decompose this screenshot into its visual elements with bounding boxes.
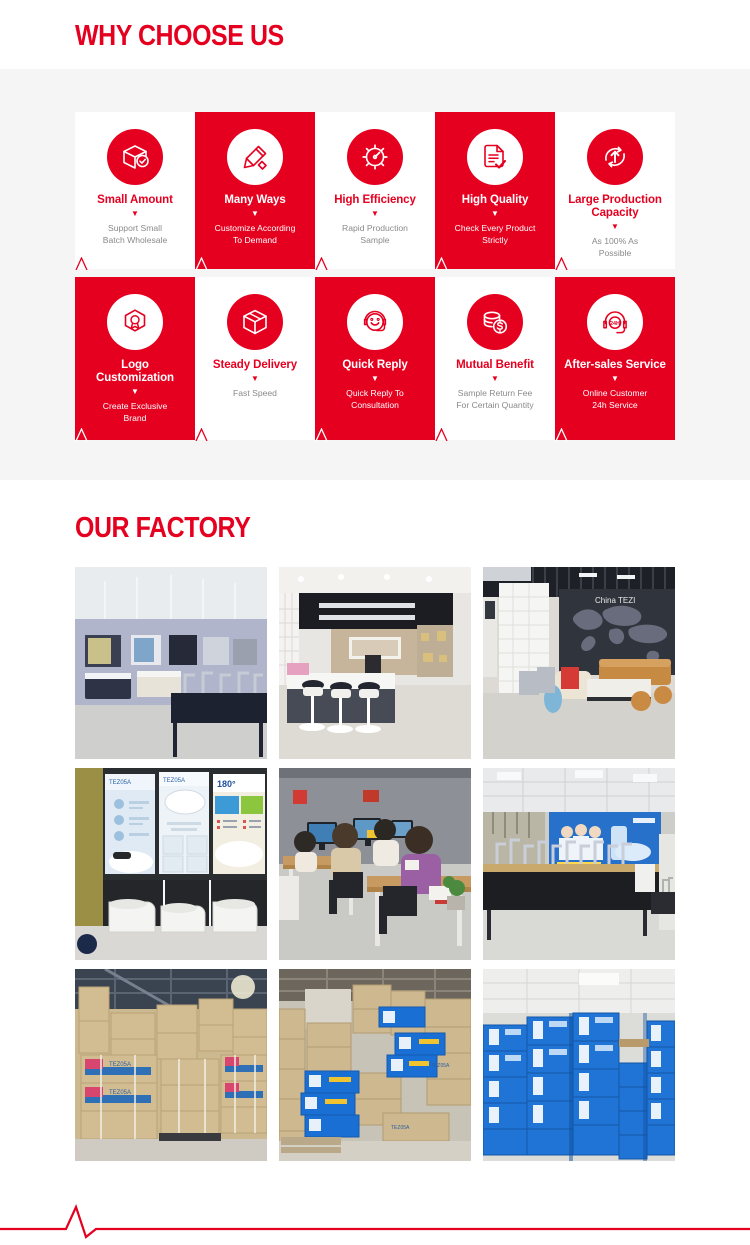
feature-card-title: Small Amount [75, 194, 195, 207]
feature-card-row-2: Logo Customization▼Create ExclusiveBrand… [75, 277, 675, 440]
our-factory-heading: OUR FACTORY [75, 512, 656, 545]
feature-card-title: Large Production Capacity [555, 194, 675, 220]
document-check-icon [467, 129, 523, 185]
feature-card-description: Customize AccordingTo Demand [195, 222, 315, 246]
smart-toilet-display-photo[interactable]: TEZ05ATEZ05A180° [75, 768, 267, 960]
triangle-down-icon: ▼ [555, 222, 675, 232]
feature-card-description: As 100% AsPossible [555, 235, 675, 259]
triangle-down-icon: ▼ [435, 374, 555, 384]
feature-card-description: Rapid ProductionSample [315, 222, 435, 246]
pulse-line-icon [0, 1191, 750, 1245]
svg-text:180°: 180° [217, 779, 236, 789]
card-caret-icon [435, 257, 448, 270]
our-factory-section: OUR FACTORY China TEZITEZ05ATEZ05A180°TE… [0, 480, 750, 1161]
headset-24h-icon: 24H [587, 294, 643, 350]
feature-card[interactable]: Mutual Benefit▼Sample Return FeeFor Cert… [435, 277, 555, 440]
card-caret-icon [315, 257, 328, 270]
feature-card-title: Quick Reply [315, 359, 435, 372]
feature-card-description: Support SmallBatch Wholesale [75, 222, 195, 246]
footer-pulse-decoration [0, 1191, 750, 1245]
package-icon [227, 294, 283, 350]
card-caret-icon [75, 257, 88, 270]
why-heading-wrap: WHY CHOOSE US [0, 0, 750, 69]
why-cards-band: Small Amount▼Support SmallBatch Wholesal… [0, 69, 750, 480]
card-caret-icon [435, 428, 448, 441]
office-reception-bar-photo[interactable] [279, 567, 471, 759]
feature-card-description: Online Customer24h Service [555, 387, 675, 411]
warehouse-blue-cartons-stacked-photo[interactable] [483, 969, 675, 1161]
why-choose-us-section: WHY CHOOSE US Small Amount▼Support Small… [0, 0, 750, 480]
feature-card-title: Steady Delivery [195, 359, 315, 372]
feature-card[interactable]: High Efficiency▼Rapid ProductionSample [315, 112, 435, 269]
svg-text:China TEZI: China TEZI [595, 596, 635, 605]
warehouse-carton-pallets-photo[interactable]: TEZ05ATEZ05A [75, 969, 267, 1161]
feature-card[interactable]: High Quality▼Check Every ProductStrictly [435, 112, 555, 269]
triangle-down-icon: ▼ [195, 209, 315, 219]
feature-card-description: Fast Speed [195, 387, 315, 399]
badge-award-icon [107, 294, 163, 350]
feature-card-description: Quick Reply ToConsultation [315, 387, 435, 411]
svg-text:24H: 24H [610, 321, 620, 327]
triangle-down-icon: ▼ [75, 387, 195, 397]
feature-card-title: High Quality [435, 194, 555, 207]
card-caret-icon [555, 428, 568, 441]
svg-text:TEZ05A: TEZ05A [109, 1090, 131, 1096]
feature-card-title: Mutual Benefit [435, 359, 555, 372]
feature-card[interactable]: Logo Customization▼Create ExclusiveBrand [75, 277, 195, 440]
factory-heading-wrap: OUR FACTORY [0, 480, 750, 567]
feature-card[interactable]: Quick Reply▼Quick Reply ToConsultation [315, 277, 435, 440]
card-caret-icon [555, 257, 568, 270]
svg-text:TEZ05A: TEZ05A [391, 1125, 410, 1131]
triangle-down-icon: ▼ [195, 374, 315, 384]
arrow-up-cycle-icon [587, 129, 643, 185]
feature-card-title: After-sales Service [555, 359, 675, 372]
feature-card-title: Many Ways [195, 194, 315, 207]
feature-card-title: Logo Customization [75, 359, 195, 385]
factory-photo-grid: China TEZITEZ05ATEZ05A180°TEZ05ATEZ05ATE… [75, 567, 675, 1161]
feature-card-title: High Efficiency [315, 194, 435, 207]
svg-text:TEZ05A: TEZ05A [431, 1063, 450, 1069]
box-check-icon [107, 129, 163, 185]
triangle-down-icon: ▼ [555, 374, 675, 384]
card-caret-icon [195, 257, 208, 270]
staff-office-workstations-photo[interactable] [279, 768, 471, 960]
coins-dollar-icon [467, 294, 523, 350]
warehouse-blue-brown-cartons-photo[interactable]: TEZ05ATEZ05A [279, 969, 471, 1161]
gear-speed-icon [347, 129, 403, 185]
feature-card-description: Sample Return FeeFor Certain Quantity [435, 387, 555, 411]
svg-text:TEZ05A: TEZ05A [109, 1062, 131, 1068]
card-caret-icon [75, 428, 88, 441]
card-caret-icon [315, 428, 328, 441]
feature-card[interactable]: Steady Delivery▼Fast Speed [195, 277, 315, 440]
feature-card[interactable]: Large Production Capacity▼As 100% AsPoss… [555, 112, 675, 269]
feature-card[interactable]: Small Amount▼Support SmallBatch Wholesal… [75, 112, 195, 269]
faucet-showroom-led-screen-photo[interactable] [483, 768, 675, 960]
headset-smile-icon [347, 294, 403, 350]
pencil-ruler-icon [227, 129, 283, 185]
feature-card-description: Check Every ProductStrictly [435, 222, 555, 246]
feature-cards-grid: Small Amount▼Support SmallBatch Wholesal… [75, 112, 675, 440]
why-choose-us-heading: WHY CHOOSE US [75, 20, 656, 53]
feature-card-row-1: Small Amount▼Support SmallBatch Wholesal… [75, 112, 675, 269]
feature-card[interactable]: 24HAfter-sales Service▼Online Customer24… [555, 277, 675, 440]
triangle-down-icon: ▼ [315, 209, 435, 219]
lounge-world-map-photo[interactable]: China TEZI [483, 567, 675, 759]
bathroom-vanity-showroom-photo[interactable] [75, 567, 267, 759]
card-caret-icon [195, 428, 208, 441]
triangle-down-icon: ▼ [75, 209, 195, 219]
triangle-down-icon: ▼ [435, 209, 555, 219]
svg-text:TEZ05A: TEZ05A [109, 780, 131, 786]
svg-text:TEZ05A: TEZ05A [163, 778, 185, 784]
feature-card-description: Create ExclusiveBrand [75, 400, 195, 424]
feature-card[interactable]: Many Ways▼Customize AccordingTo Demand [195, 112, 315, 269]
triangle-down-icon: ▼ [315, 374, 435, 384]
